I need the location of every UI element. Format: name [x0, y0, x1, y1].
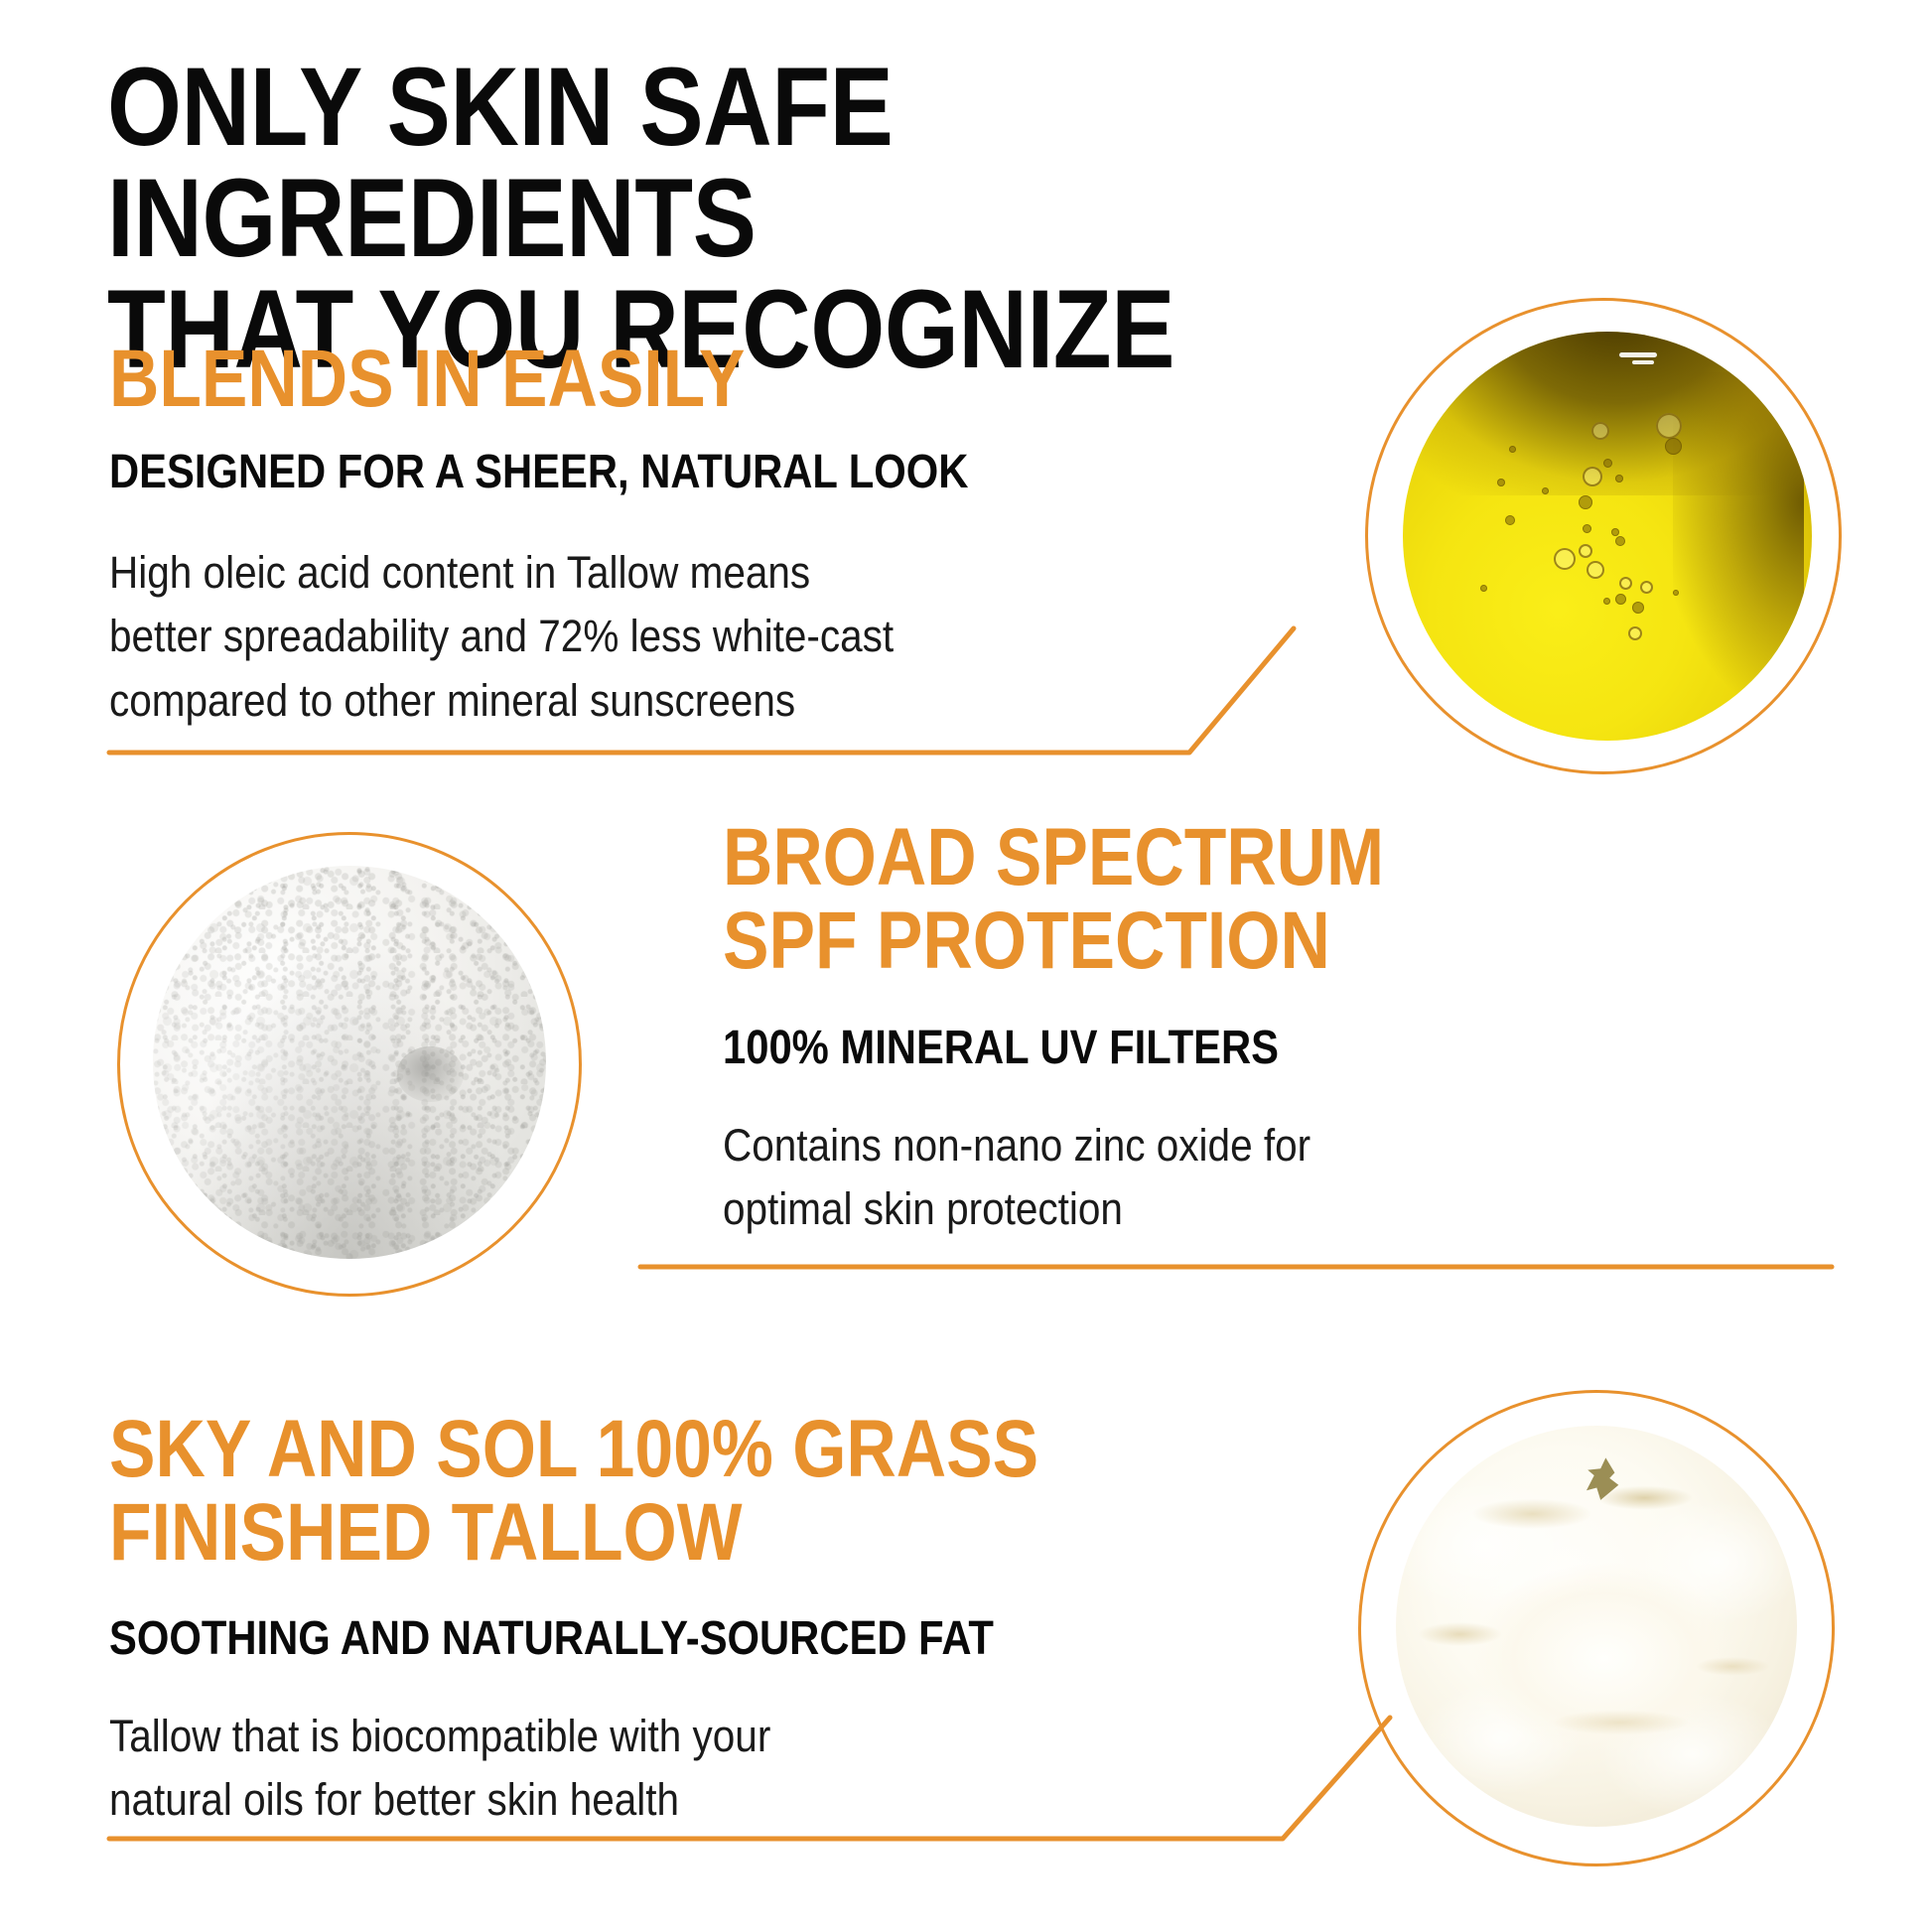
- infographic-root: ONLY SKIN SAFE INGREDIENTS THAT YOU RECO…: [0, 0, 1932, 1932]
- section-3-divider: [0, 0, 1932, 1932]
